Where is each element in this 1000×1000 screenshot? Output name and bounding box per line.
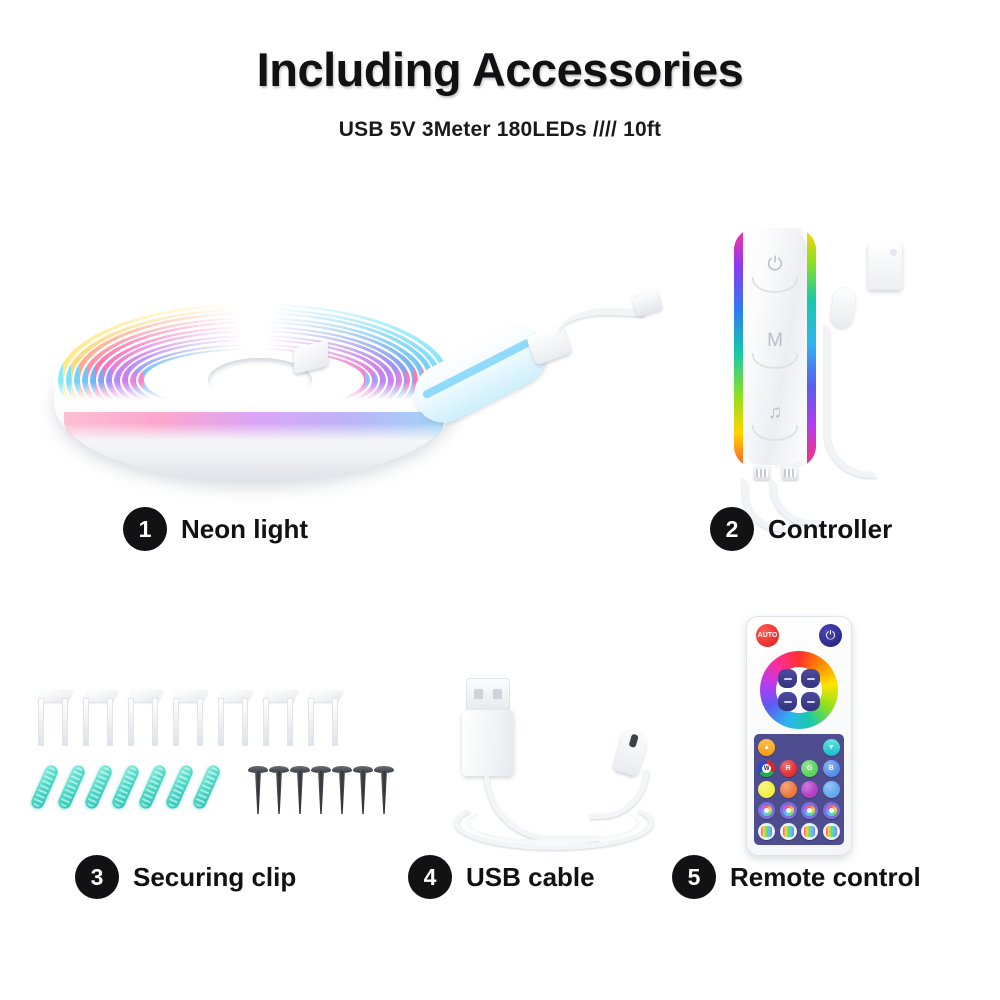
wall-anchor <box>191 763 222 810</box>
coil-edge-glow <box>64 412 444 474</box>
mode-button-3[interactable] <box>801 802 818 819</box>
green-button[interactable]: G <box>801 760 818 777</box>
controller: ⏻ M ♫ <box>720 228 920 478</box>
clip-leg <box>83 698 89 746</box>
usb-cord-loop-inner <box>466 802 640 844</box>
controller-mode-button[interactable]: M <box>743 321 807 393</box>
remote-top-row: AUTO ⏻ <box>754 624 844 648</box>
clip-leg <box>152 698 158 746</box>
tail-plug-icon <box>632 290 663 317</box>
clip-leg <box>107 698 113 746</box>
page-title: Including Accessories <box>0 42 1000 97</box>
legend-label-3: Securing clip <box>133 862 296 893</box>
badge-number-3: 3 <box>75 855 119 899</box>
screw <box>248 766 268 814</box>
securing-clip <box>308 690 338 746</box>
yellow-button[interactable] <box>758 781 775 798</box>
screw <box>290 766 310 814</box>
controller-face: ⏻ M ♫ <box>743 231 807 465</box>
chevron-down-icon <box>752 425 798 441</box>
screw <box>374 766 394 814</box>
securing-clip <box>263 690 293 746</box>
neon-light-coil <box>42 262 472 492</box>
usb-connector-shell <box>462 710 514 776</box>
screw-shaft <box>339 771 345 814</box>
screw-shaft <box>360 771 366 814</box>
legend-item-3: 3 Securing clip <box>75 855 296 899</box>
remote-control: AUTO ⏻ ▲▼WRGB <box>746 616 852 856</box>
clip-leg <box>218 698 224 746</box>
blank-2 <box>801 739 818 756</box>
wall-anchor <box>56 763 87 810</box>
wall-anchor <box>110 763 141 810</box>
dash-icon <box>807 678 815 680</box>
badge-number-2: 2 <box>710 507 754 551</box>
controller-power-button[interactable]: ⏻ <box>743 245 807 317</box>
wall-anchor <box>137 763 168 810</box>
dash-icon <box>784 701 792 703</box>
clip-leg <box>263 698 269 746</box>
legend-item-5: 5 Remote control <box>672 855 921 899</box>
controller-usb-wire <box>824 324 878 478</box>
neon-strip-tail <box>402 284 662 424</box>
clip-leg <box>62 698 68 746</box>
legend-item-4: 4 USB cable <box>408 855 595 899</box>
blank-1 <box>780 739 797 756</box>
mode-glyph <box>783 805 794 816</box>
controller-rgb-edge-right <box>807 228 816 468</box>
securing-clip <box>173 690 203 746</box>
mode-glyph <box>826 805 837 816</box>
page-subtitle: USB 5V 3Meter 180LEDs //// 10ft <box>0 118 1000 142</box>
legend-item-1: 1 Neon light <box>123 507 308 551</box>
controller-rgb-edge-left <box>734 228 743 468</box>
remote-keypad: ▲▼WRGB <box>754 734 844 845</box>
dash-icon <box>807 701 815 703</box>
function-button-3[interactable] <box>801 823 818 840</box>
controller-music-button[interactable]: ♫ <box>743 393 807 465</box>
clip-leg <box>128 698 134 746</box>
function-glyph <box>783 826 794 837</box>
function-glyph <box>804 826 815 837</box>
white-label: W <box>762 764 771 773</box>
color-wheel[interactable] <box>760 651 838 729</box>
screw-shaft <box>381 771 387 814</box>
screw <box>269 766 289 814</box>
wall-anchor <box>164 763 195 810</box>
white-button[interactable]: W <box>758 760 775 777</box>
blue-button[interactable]: B <box>823 760 840 777</box>
mode-button-2[interactable] <box>780 802 797 819</box>
controller-usb-connector <box>868 242 902 290</box>
controller-body: ⏻ M ♫ <box>734 228 816 468</box>
color-wheel-pads <box>778 669 820 711</box>
badge-number-1: 1 <box>123 507 167 551</box>
auto-button[interactable]: AUTO <box>756 624 779 647</box>
screw-shaft <box>318 771 324 814</box>
clip-leg <box>332 698 338 746</box>
screw <box>332 766 352 814</box>
securing-clip <box>128 690 158 746</box>
clip-leg <box>38 698 44 746</box>
music-note-icon: ♫ <box>768 403 782 422</box>
clip-leg <box>287 698 293 746</box>
wall-anchor <box>29 763 60 810</box>
chevron-down-icon <box>752 277 798 293</box>
wheel-pad-1[interactable] <box>778 669 797 688</box>
function-button-1[interactable] <box>758 823 775 840</box>
purple-button[interactable] <box>801 781 818 798</box>
legend-label-2: Controller <box>768 514 892 545</box>
securing-clip <box>218 690 248 746</box>
function-button-2[interactable] <box>780 823 797 840</box>
securing-clip <box>38 690 68 746</box>
lightblue-button[interactable] <box>823 781 840 798</box>
legend-label-1: Neon light <box>181 514 308 545</box>
wheel-pad-3[interactable] <box>778 692 797 711</box>
screw-shaft <box>297 771 303 814</box>
tail-wire <box>557 307 645 359</box>
mode-glyph <box>804 805 815 816</box>
securing-clips-group <box>38 690 378 820</box>
brightness-down[interactable]: ▼ <box>823 739 840 756</box>
wheel-pad-2[interactable] <box>801 669 820 688</box>
badge-number-4: 4 <box>408 855 452 899</box>
mode-letter-icon: M <box>767 331 783 350</box>
chevron-down-icon <box>752 353 798 369</box>
accessories-infographic: Including Accessories USB 5V 3Meter 180L… <box>0 0 1000 1000</box>
screw <box>311 766 331 814</box>
controller-inline-connector <box>829 287 856 330</box>
legend-label-5: Remote control <box>730 862 921 893</box>
legend-item-2: 2 Controller <box>710 507 892 551</box>
red-button[interactable]: R <box>780 760 797 777</box>
legend-label-4: USB cable <box>466 862 595 893</box>
securing-clip <box>83 690 113 746</box>
badge-number-5: 5 <box>672 855 716 899</box>
remote-power-button[interactable]: ⏻ <box>819 624 842 647</box>
orange-button[interactable] <box>780 781 797 798</box>
dash-icon <box>784 678 792 680</box>
function-glyph <box>761 826 772 837</box>
screw <box>353 766 373 814</box>
clip-leg <box>308 698 314 746</box>
mode-button-4[interactable] <box>823 802 840 819</box>
function-glyph <box>826 826 837 837</box>
usb-a-connector <box>466 678 510 712</box>
usb-cable <box>450 678 660 843</box>
screw-shaft <box>276 771 282 814</box>
clip-leg <box>173 698 179 746</box>
power-icon: ⏻ <box>767 255 782 274</box>
function-button-4[interactable] <box>823 823 840 840</box>
mode-button-1[interactable] <box>758 802 775 819</box>
brightness-up[interactable]: ▲ <box>758 739 775 756</box>
clip-leg <box>197 698 203 746</box>
clip-leg <box>242 698 248 746</box>
mode-glyph <box>761 805 772 816</box>
wheel-pad-4[interactable] <box>801 692 820 711</box>
wall-anchor <box>83 763 114 810</box>
screw-shaft <box>255 771 261 814</box>
